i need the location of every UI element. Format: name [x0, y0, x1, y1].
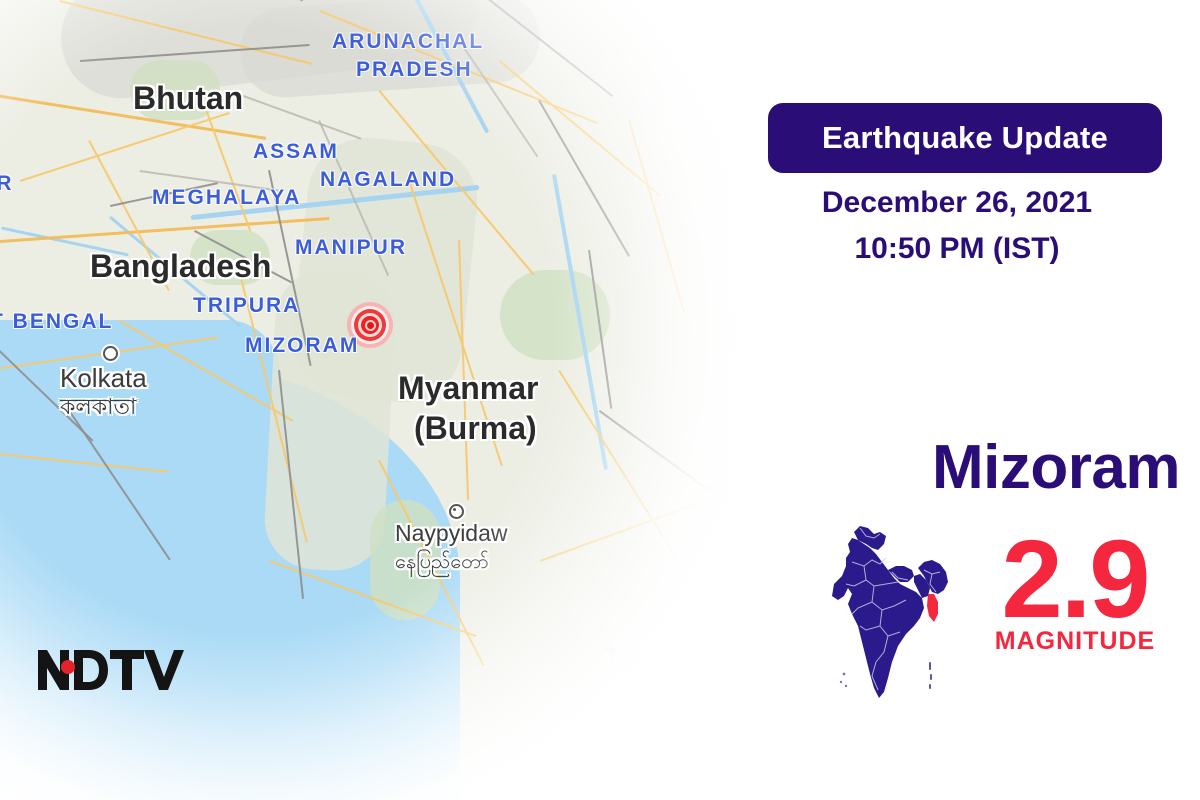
info-panel: Earthquake Update December 26, 2021 10:5…: [760, 0, 1200, 800]
label-west-bengal: EST BENGAL: [0, 310, 113, 334]
lakshadweep-islands: [840, 673, 847, 688]
label-arunachal-pradesh-line1: ARUNACHAL: [332, 30, 484, 54]
label-arunachal-pradesh-line2: PRADESH: [356, 58, 473, 82]
earthquake-update-badge: Earthquake Update: [768, 103, 1162, 173]
earthquake-update-graphic: ARUNACHAL PRADESH ASSAM NAGALAND MEGHALA…: [0, 0, 1200, 800]
magnitude-label: MAGNITUDE: [960, 627, 1190, 656]
label-mizoram: MIZORAM: [245, 334, 359, 358]
label-bihar: HAR: [0, 172, 14, 196]
label-bangladesh: Bangladesh: [90, 248, 271, 285]
label-myanmar-burma: (Burma): [414, 410, 537, 447]
label-thailand: Th: [602, 640, 642, 678]
epicenter-core: [367, 322, 374, 329]
ndtv-logo-dot: [61, 660, 75, 674]
label-bhutan: Bhutan: [133, 80, 243, 117]
label-meghalaya: MEGHALAYA: [152, 186, 301, 210]
label-vietnam: Vie: [700, 575, 740, 606]
andaman-islands: [929, 662, 932, 689]
region-name: Mizoram: [760, 432, 1180, 503]
event-time: 10:50 PM (IST): [760, 232, 1154, 266]
label-assam: ASSAM: [253, 140, 339, 164]
naypyidaw-marker[interactable]: [449, 504, 464, 519]
ndtv-logo[interactable]: [38, 648, 190, 692]
magnitude-block: 2.9 MAGNITUDE: [960, 528, 1190, 656]
label-nagaland: NAGALAND: [320, 168, 456, 192]
india-map-icon: [828, 522, 958, 707]
label-naypyidaw-local: နေပြည်တော်: [395, 548, 489, 578]
badge-label: Earthquake Update: [822, 120, 1108, 156]
kolkata-marker[interactable]: [103, 346, 118, 361]
mizoram-highlight: [927, 594, 938, 622]
magnitude-value: 2.9: [960, 528, 1190, 633]
label-myanmar: Myanmar: [398, 370, 539, 407]
event-date: December 26, 2021: [760, 186, 1154, 220]
label-manipur: MANIPUR: [295, 236, 407, 260]
andaman-sea-water: [190, 540, 390, 800]
label-tripura: TRIPURA: [193, 294, 300, 318]
label-naypyidaw: Naypyidaw: [395, 520, 508, 547]
ndtv-logo-mark: [38, 648, 190, 692]
label-kolkata-local: কলকাতা: [60, 390, 136, 427]
